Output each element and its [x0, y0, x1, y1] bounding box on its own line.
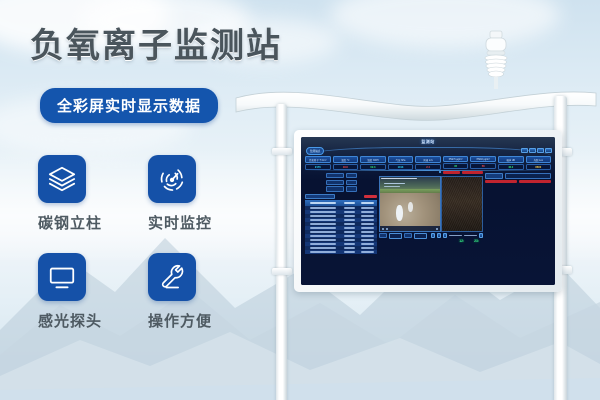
video-subject: [396, 205, 403, 221]
form-label: [326, 173, 344, 178]
feature-item[interactable]: 感光探头: [38, 253, 148, 331]
dashboard-title: 监测站: [301, 139, 555, 145]
kpi-strip: 负氧离子 个/cm³2176温度 ℃18.6湿度 %RH62.3气压 hPa10…: [305, 156, 551, 170]
form-label: [326, 180, 344, 185]
right-panel-header[interactable]: [485, 173, 551, 179]
video-pause-button[interactable]: [386, 228, 388, 230]
video-osd-line: [381, 178, 417, 180]
feature-item[interactable]: 实时监控: [148, 155, 258, 233]
readout-value: 23:: [474, 239, 479, 243]
form-value: [346, 186, 357, 191]
table-row[interactable]: [305, 250, 377, 254]
alert-badge[interactable]: [443, 171, 460, 174]
kpi-label: PM2.5 μg/m³: [443, 156, 469, 162]
feature-label: 操作方便: [148, 310, 258, 331]
feature-item[interactable]: 操作方便: [148, 253, 258, 331]
panel-search-input[interactable]: [505, 173, 551, 179]
toolbar-button[interactable]: [529, 148, 536, 153]
radar-gauge-icon: [157, 164, 187, 194]
feature-tile[interactable]: [38, 155, 86, 203]
dashboard-right-panel: [485, 173, 551, 281]
data-table: [305, 200, 377, 254]
kpi-card: 噪声 dB46.2: [498, 156, 524, 170]
subtitle-badge: 全彩屏实时显示数据: [40, 88, 218, 123]
toolbar-button[interactable]: [545, 148, 552, 153]
video-play-button[interactable]: [382, 228, 384, 230]
video-feed[interactable]: [379, 176, 441, 232]
table-cell: [341, 250, 358, 254]
filter-controls[interactable]: [379, 233, 483, 239]
form-value: [346, 180, 357, 185]
kpi-label: PM10 μg/m³: [470, 156, 496, 162]
kpi-card: 湿度 %RH62.3: [360, 156, 386, 170]
kpi-card: 气压 hPa1013: [388, 156, 414, 170]
dashboard-left-panel: [305, 173, 377, 281]
status-dot: [439, 171, 441, 173]
filter-label: [404, 233, 412, 238]
kpi-label: 光照 Lux: [526, 156, 552, 163]
kpi-card: 温度 ℃18.6: [333, 156, 359, 170]
wrench-icon: [157, 262, 187, 292]
layers-icon: [47, 164, 77, 194]
kpi-card: PM10 μg/m³58: [470, 156, 496, 170]
toolbar-button[interactable]: [521, 148, 528, 153]
kpi-value: 35: [443, 163, 469, 169]
display-bezel: 监测站 监测站点 负氧离子 个/cm³2176温度 ℃18.6湿度 %RH62.…: [294, 130, 562, 292]
feature-label: 碳钢立柱: [38, 212, 148, 233]
status-text: [449, 235, 462, 236]
kpi-label: 气压 hPa: [388, 156, 414, 163]
feature-tile[interactable]: [148, 155, 196, 203]
promo-banner: 监测站 监测站点 负氧离子 个/cm³2176温度 ℃18.6湿度 %RH62.…: [0, 0, 600, 400]
paging-button[interactable]: [431, 233, 435, 238]
table-cell: [305, 250, 341, 254]
filter-label: [379, 233, 387, 238]
secondary-camera-feed[interactable]: [441, 176, 483, 232]
alert-button[interactable]: [364, 195, 377, 199]
camera-noise: [442, 177, 482, 231]
video-fullscreen-button[interactable]: [436, 228, 438, 230]
feature-item[interactable]: 碳钢立柱: [38, 155, 148, 233]
feature-grid: 碳钢立柱 实时监控: [38, 155, 248, 331]
video-controls-bar[interactable]: [380, 226, 440, 231]
station-tag: 监测站点: [306, 147, 324, 155]
alert-buttons[interactable]: [443, 171, 483, 174]
filter-select[interactable]: [389, 233, 402, 239]
paging-button[interactable]: [437, 233, 441, 238]
dashboard-center-panel: 12: 23:: [379, 173, 483, 281]
form-value: [346, 173, 357, 178]
toolbar-button[interactable]: [537, 148, 544, 153]
kpi-label: 温度 ℃: [333, 156, 359, 163]
kpi-value: 58: [470, 163, 496, 169]
marketing-content: 负氧离子监测站 全彩屏实时显示数据 碳钢立柱: [0, 0, 300, 400]
readout-value: 12:: [459, 239, 464, 243]
status-text: [464, 235, 477, 236]
alert-badge[interactable]: [519, 180, 551, 183]
feature-tile[interactable]: [148, 253, 196, 301]
alert-badge[interactable]: [462, 171, 483, 174]
table-title: [305, 194, 335, 200]
kpi-label: 负氧离子 个/cm³: [305, 156, 331, 163]
feature-tile[interactable]: [38, 253, 86, 301]
display-screen[interactable]: 监测站 监测站点 负氧离子 个/cm³2176温度 ℃18.6湿度 %RH62.…: [301, 137, 555, 285]
monitor-icon: [47, 262, 77, 292]
header-wave-divider: [305, 147, 551, 156]
numeric-readouts: 12: 23:: [459, 239, 479, 243]
dashboard-toolbar[interactable]: [521, 148, 552, 153]
form-label: [326, 186, 344, 191]
mini-form[interactable]: [305, 173, 377, 192]
kpi-label: 风速 m/s: [415, 156, 441, 163]
kpi-card: 负氧离子 个/cm³2176: [305, 156, 331, 170]
video-grassline: [380, 189, 440, 193]
feature-label: 感光探头: [38, 310, 148, 331]
alert-badge[interactable]: [485, 180, 517, 183]
table-cell: [358, 250, 377, 254]
feature-label: 实时监控: [148, 212, 258, 233]
kpi-card: 光照 Lux8600: [526, 156, 552, 170]
video-subject: [408, 202, 413, 212]
page-title: 负氧离子监测站: [30, 18, 282, 67]
kpi-card: PM2.5 μg/m³35: [443, 156, 469, 170]
section-divider: [305, 170, 551, 171]
weather-sensor-icon: [474, 30, 518, 90]
kpi-label: 湿度 %RH: [360, 156, 386, 163]
kpi-card: 风速 m/s2.4: [415, 156, 441, 170]
refresh-button[interactable]: [479, 233, 483, 238]
paging-button[interactable]: [443, 233, 447, 238]
dashboard: 监测站 监测站点 负氧离子 个/cm³2176温度 ℃18.6湿度 %RH62.…: [301, 137, 555, 285]
alert-row[interactable]: [485, 180, 551, 183]
kpi-label: 噪声 dB: [498, 156, 524, 163]
filter-select[interactable]: [414, 233, 427, 239]
panel-title: [485, 173, 503, 179]
table-toolbar[interactable]: [305, 194, 377, 200]
